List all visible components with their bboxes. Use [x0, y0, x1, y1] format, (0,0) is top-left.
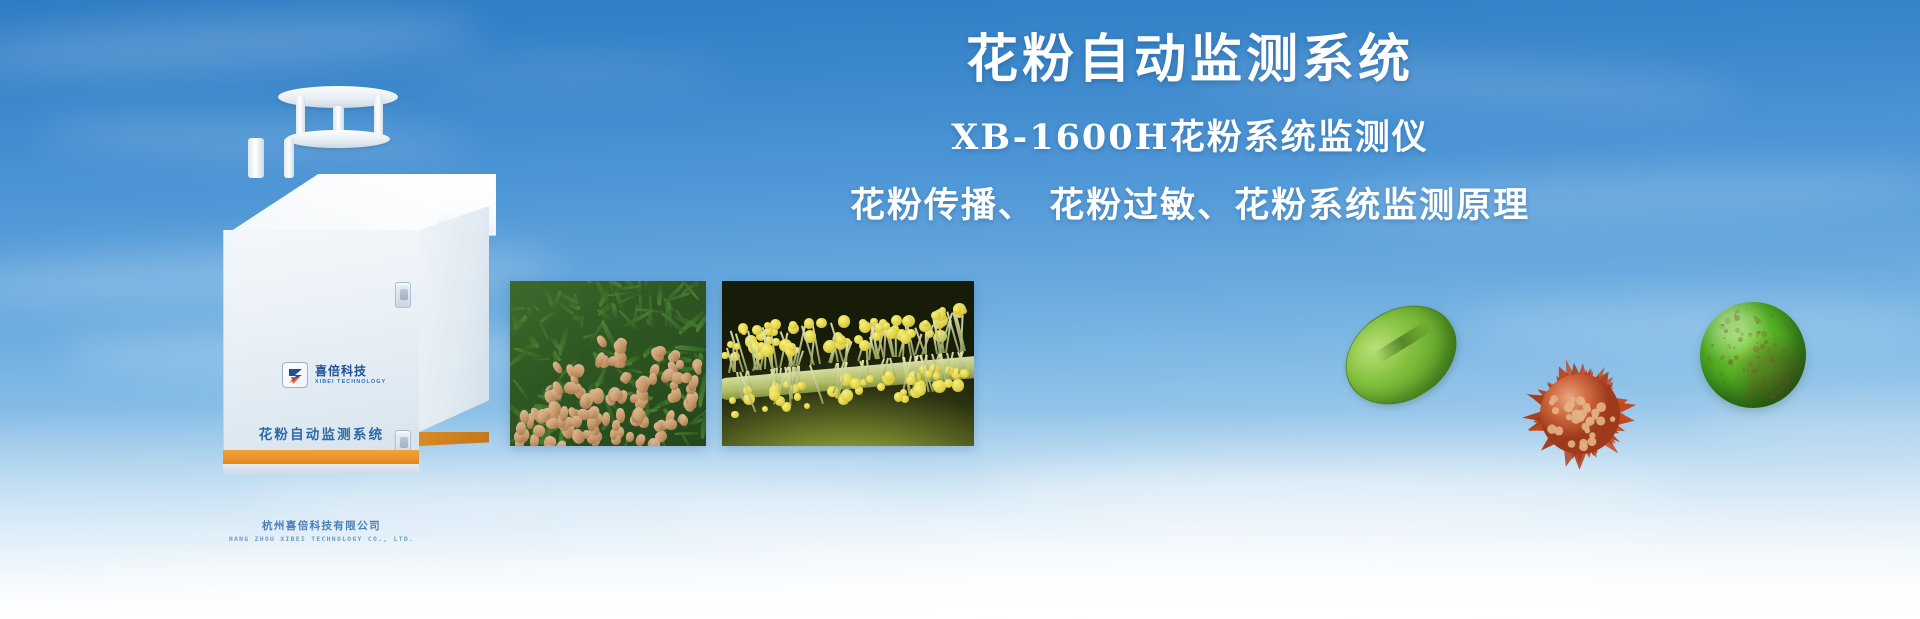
anther [931, 311, 940, 320]
green-spherical-pollen-grain [1700, 302, 1806, 408]
panel-company-cn: 杭州喜倍科技有限公司 [224, 518, 419, 533]
pollen-cone [634, 433, 646, 446]
pollen-surface-speck [1721, 355, 1725, 359]
pollen-papilla [1552, 407, 1559, 414]
panel-product-title: 花粉自动监测系统 [224, 423, 419, 443]
pollen-cone [649, 373, 657, 386]
pollen-surface-speck [1707, 359, 1713, 365]
pollen-surface-speck [1766, 387, 1770, 391]
pollen-body [1700, 302, 1806, 408]
anther [762, 406, 768, 412]
pollen-surface-speck [1756, 334, 1760, 338]
anther [729, 397, 736, 404]
pollen-surface-speck [1757, 356, 1760, 359]
pollen-surface-speck [1753, 346, 1758, 351]
pollen-surface-speck [1729, 347, 1732, 350]
stamen-filament [883, 326, 887, 358]
brand-name-en: XIBEI TECHNOLOGY [315, 380, 386, 385]
pollen-surface-speck [1740, 332, 1744, 336]
pollen-surface-speck [1752, 381, 1757, 386]
pollen-surface-speck [1786, 329, 1789, 332]
pollen-cone [654, 346, 667, 358]
cabinet-base-stripe-side [419, 432, 489, 446]
pollen-papilla [1589, 432, 1595, 438]
pollen-papilla [1580, 400, 1586, 406]
conifer-needle [639, 294, 642, 315]
pollen-surface-speck [1755, 318, 1761, 324]
inlet-stem-rear [284, 138, 294, 178]
pollen-surface-speck [1742, 396, 1748, 402]
pollen-papilla [1547, 424, 1556, 433]
pollen-surface-speck [1759, 385, 1763, 389]
anther [906, 376, 915, 385]
anther [872, 332, 881, 341]
pollen-surface-speck [1788, 367, 1793, 372]
pollen-surface-speck [1723, 337, 1725, 339]
pollen-surface-speck [1712, 366, 1715, 369]
conifer-needle [612, 303, 618, 318]
pollen-monitor-instrument: 喜倍科技 XIBEI TECHNOLOGY 花粉自动监测系统 XB-1600H … [196, 78, 496, 438]
pollen-surface-speck [1782, 369, 1788, 375]
pollen-surface-speck [1764, 394, 1767, 397]
pollen-body [1327, 286, 1475, 425]
cabinet-foot [223, 464, 419, 474]
conifer-needle [674, 431, 699, 434]
pollen-cone [665, 419, 677, 430]
brand-logo: 喜倍科技 XIBEI TECHNOLOGY [282, 362, 386, 388]
pollen-papilla [1591, 409, 1599, 417]
pollen-papilla [1579, 442, 1588, 451]
anther [836, 335, 846, 345]
pollen-surface-speck [1726, 391, 1729, 394]
inlet-stem [248, 138, 264, 178]
pollen-surface-speck [1767, 350, 1771, 354]
anther [883, 322, 890, 329]
pollen-surface-speck [1719, 371, 1724, 376]
subtitle-model: XB-1600H花粉系统监测仪 [600, 117, 1780, 159]
pollen-papilla [1596, 416, 1605, 425]
conifer-needle [518, 281, 551, 282]
conifer-needle [510, 307, 525, 311]
pollen-surface-speck [1725, 318, 1730, 323]
pollen-surface-speck [1723, 380, 1727, 384]
xibei-logo-mark-icon [282, 362, 308, 388]
anther [960, 369, 969, 378]
pollen-surface-speck [1754, 368, 1758, 372]
pollen-surface-speck [1776, 389, 1782, 395]
brand-name-cn: 喜倍科技 [315, 365, 386, 377]
cloud-wisp [0, 4, 481, 83]
pollen-surface-speck [1750, 390, 1756, 396]
pollen-monitoring-banner: 花粉自动监测系统 XB-1600H花粉系统监测仪 花粉传播、 花粉过敏、花粉系统… [0, 0, 1920, 619]
pollen-spike [1522, 411, 1543, 421]
sampler-inlet-head-icon [278, 78, 398, 166]
anther [816, 318, 827, 329]
anther [804, 318, 814, 328]
pollen-surface-speck [1775, 339, 1777, 341]
anther [804, 403, 810, 409]
pollen-surface-speck [1771, 395, 1775, 399]
conifer-needle [644, 281, 651, 290]
pollen-surface-speck [1745, 308, 1748, 311]
anther [782, 403, 791, 412]
panel-company-en: HANG ZHOU XIBEI TECHNOLOGY CO., LTD. [224, 535, 419, 543]
anther [913, 384, 925, 396]
inlet-mid-disc [286, 130, 390, 148]
cedar-pollen-cones-photo [510, 281, 706, 446]
anther [838, 315, 850, 327]
pollen-surface-speck [1734, 315, 1740, 321]
pollen-cone [592, 388, 605, 405]
pollen-surface-speck [1787, 324, 1791, 328]
pollen-surface-speck [1754, 378, 1757, 381]
anther [952, 379, 964, 391]
anther [741, 329, 747, 335]
anther [769, 390, 780, 401]
pollen-surface-speck [1761, 331, 1767, 337]
anther [824, 340, 835, 351]
conifer-needle [573, 314, 586, 323]
yellow-catkin-anthers-photo [722, 281, 974, 446]
red-spiky-pollen-grain [1518, 352, 1642, 476]
pollen-papilla [1549, 399, 1555, 405]
conifer-needle [699, 414, 706, 439]
pollen-papilla [1570, 397, 1575, 402]
pollen-surface-speck [1774, 365, 1778, 369]
pollen-surface-speck [1773, 332, 1776, 335]
pollen-surface-speck [1738, 337, 1743, 342]
pollen-surface-speck [1770, 314, 1774, 318]
pollen-surface-speck [1756, 342, 1758, 344]
conifer-needle [529, 358, 550, 361]
anther [866, 375, 874, 383]
pollen-surface-speck [1748, 333, 1752, 337]
pollen-surface-speck [1747, 369, 1750, 372]
pollen-surface-speck [1785, 357, 1789, 361]
anther [797, 382, 804, 389]
pollen-surface-speck [1734, 355, 1739, 360]
anther [850, 378, 861, 389]
pollen-surface-speck [1783, 350, 1787, 354]
anther [788, 343, 796, 351]
conifer-needle [539, 310, 558, 324]
conifer-needle [512, 378, 529, 401]
brand-logo-texts: 喜倍科技 XIBEI TECHNOLOGY [315, 365, 386, 385]
page-title: 花粉自动监测系统 [600, 30, 1780, 91]
pollen-cone [650, 440, 659, 446]
pollen-surface-speck [1763, 379, 1768, 384]
cabinet-base-stripe [223, 450, 419, 464]
pollen-surface-speck [1743, 368, 1745, 370]
pollen-papilla [1584, 405, 1591, 412]
pollen-surface-speck [1770, 357, 1774, 361]
conifer-needle [681, 434, 690, 446]
subtitle-topics: 花粉传播、 花粉过敏、花粉系统监测原理 [600, 185, 1780, 227]
pollen-surface-speck [1751, 369, 1754, 372]
pollen-surface-speck [1727, 356, 1730, 359]
cabinet-latch-icon[interactable] [395, 282, 411, 308]
anther [752, 325, 762, 335]
pollen-surface-speck [1733, 347, 1736, 350]
anther [922, 320, 929, 327]
green-ellipsoid-pollen-grain [1342, 310, 1460, 400]
pollen-surface-speck [1785, 381, 1790, 386]
pollen-surface-speck [1764, 340, 1769, 345]
pollen-papilla [1586, 417, 1592, 423]
cabinet-front-panel: 喜倍科技 XIBEI TECHNOLOGY 花粉自动监测系统 XB-1600H … [223, 230, 419, 450]
pollen-surface-speck [1773, 343, 1777, 347]
conifer-needle [594, 379, 606, 387]
pollen-surface-speck [1794, 344, 1798, 348]
pollen-papilla [1610, 416, 1616, 422]
pollen-surface-speck [1760, 344, 1766, 350]
anther [894, 392, 903, 401]
pollen-papilla [1576, 413, 1585, 422]
cabinet-side-panel [419, 206, 489, 432]
anther [731, 411, 738, 418]
pollen-surface-speck [1724, 329, 1728, 333]
anther [841, 389, 853, 401]
headline-block: 花粉自动监测系统 XB-1600H花粉系统监测仪 花粉传播、 花粉过敏、花粉系统… [600, 30, 1780, 227]
pollen-surface-speck [1743, 389, 1746, 392]
cloud-wisp [1460, 300, 1920, 346]
pollen-papilla [1582, 423, 1590, 431]
pollen-surface-speck [1749, 374, 1752, 377]
pollen-papilla [1568, 440, 1576, 448]
conifer-needle [557, 325, 572, 356]
anther [933, 372, 941, 380]
pollen-surface-speck [1748, 362, 1753, 367]
pollen-surface-speck [1711, 344, 1714, 347]
pollen-surface-speck [1747, 378, 1750, 381]
anther [953, 305, 961, 313]
anther [794, 393, 802, 401]
pollen-surface-speck [1729, 360, 1734, 365]
anther [884, 371, 894, 381]
pollen-surface-speck [1735, 309, 1740, 314]
pollen-cone [626, 432, 635, 442]
anther [877, 383, 885, 391]
pollen-surface-speck [1790, 359, 1795, 364]
anther [900, 333, 911, 344]
pollen-surface-speck [1783, 321, 1788, 326]
